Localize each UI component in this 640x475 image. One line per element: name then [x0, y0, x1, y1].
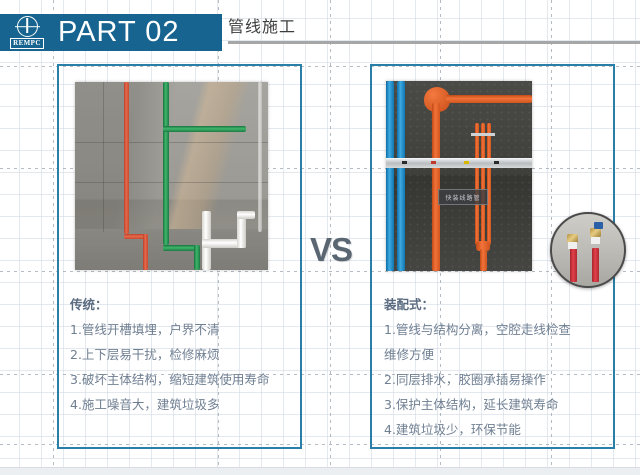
slide-canvas: REMPC PART 02 管线施工 [0, 0, 640, 475]
orange-conduit-drop [480, 249, 487, 271]
red-conduit-drop [143, 234, 148, 270]
orange-conduit-bundle [487, 123, 491, 245]
prefabricated-item-1: 1.管线与结构分离，空腔走线检查 [384, 317, 571, 342]
prefabricated-item-2: 2.同层排水，胶圈承插易操作 [384, 367, 571, 392]
white-tag [591, 237, 600, 244]
blue-pipe [386, 81, 394, 271]
white-pvc-stub [237, 211, 255, 219]
red-pipe [592, 248, 599, 282]
header-band: REMPC PART 02 [0, 14, 222, 51]
guide-vertical [53, 0, 54, 475]
circle-cross-icon [17, 16, 38, 37]
pipe-fitting-detail-photo [550, 212, 626, 288]
wall-seam [103, 82, 104, 232]
orange-conduit-bundle [475, 123, 479, 245]
orange-conduit-vertical [432, 103, 440, 271]
section-title: 管线施工 [228, 13, 296, 37]
traditional-item-3: 3.破坏主体结构，缩短建筑使用寿命 [70, 367, 269, 392]
red-pipe [570, 248, 577, 282]
white-pvc-edge [258, 82, 262, 232]
rempc-logo-icon: REMPC [0, 14, 54, 51]
logo-wordmark: REMPC [10, 38, 44, 49]
traditional-item-4: 4.施工噪音大，建筑垃圾多 [70, 392, 269, 417]
traditional-text-block: 传统： 1.管线开槽填埋，户界不清 2.上下层易干扰，检修麻烦 3.破坏主体结构… [70, 292, 269, 417]
orange-conduit-horizontal [446, 95, 532, 103]
pipe-clamp [471, 133, 495, 136]
traditional-pipe-photo [75, 82, 268, 270]
rail-marker [464, 161, 469, 164]
title-divider [228, 41, 640, 44]
orange-conduit-bundle [481, 123, 485, 247]
traditional-heading: 传统： [70, 292, 269, 317]
green-conduit-branch [163, 126, 246, 132]
pipe-label-sign: 快装线路管 [438, 189, 488, 205]
page-title: PART 02 [58, 18, 179, 47]
green-conduit-drop [194, 245, 200, 270]
prefabricated-item-3: 3.保护主体结构，延长建筑寿命 [384, 392, 571, 417]
white-tag [568, 242, 577, 249]
red-conduit-vertical [124, 82, 129, 234]
green-conduit-vertical [163, 82, 169, 245]
traditional-item-2: 2.上下层易干扰，检修麻烦 [70, 342, 269, 367]
prefabricated-text-block: 装配式： 1.管线与结构分离，空腔走线检查 维修方便 2.同层排水，胶圈承插易操… [384, 292, 571, 442]
blue-pipe [397, 81, 405, 271]
prefabricated-item-1-cont: 维修方便 [384, 342, 571, 367]
vs-label: VS [310, 231, 352, 269]
prefabricated-heading: 装配式： [384, 292, 571, 317]
blue-cap [594, 222, 603, 229]
traditional-item-1: 1.管线开槽填埋，户界不清 [70, 317, 269, 342]
metal-rail [386, 158, 532, 168]
rail-marker [431, 161, 436, 164]
rail-marker [402, 161, 407, 164]
prefabricated-item-4: 4.建筑垃圾少，环保节能 [384, 417, 571, 442]
dark-wall [386, 81, 532, 271]
prefabricated-pipe-photo: 快装线路管 [386, 81, 532, 271]
bottom-strip [0, 467, 640, 475]
brass-fitting [590, 228, 601, 237]
rail-marker [494, 161, 499, 164]
